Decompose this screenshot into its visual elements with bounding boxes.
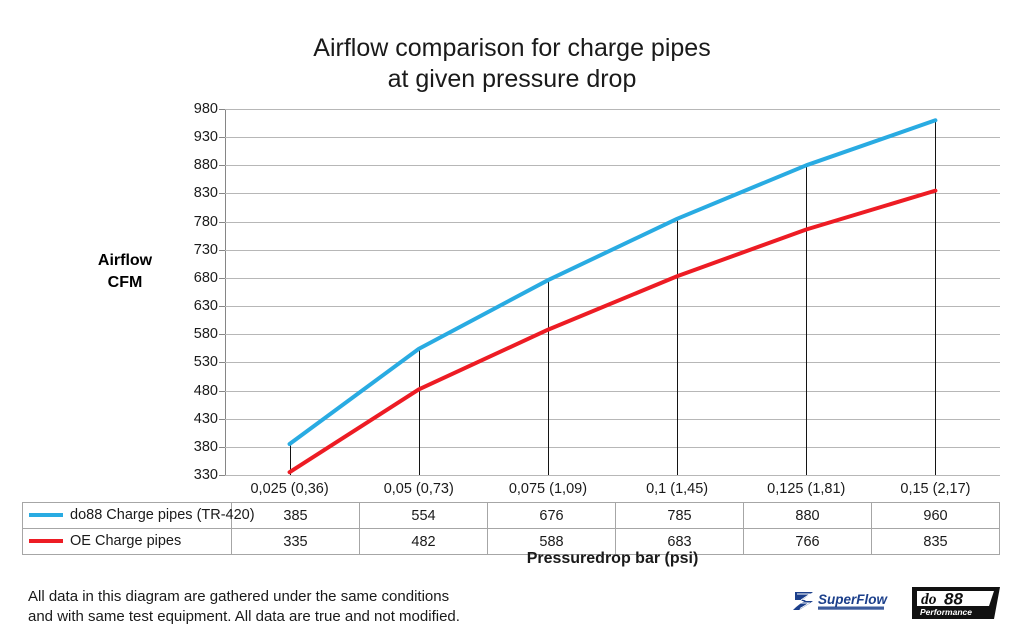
table-spacer-cell — [23, 476, 232, 503]
table-cell-value: 880 — [744, 503, 872, 529]
legend-item-1: OE Charge pipes — [23, 529, 232, 555]
table-cell-value: 785 — [616, 503, 744, 529]
y-tick-label: 830 — [174, 186, 218, 200]
y-tick-label: 480 — [174, 384, 218, 398]
y-tick-label: 880 — [174, 158, 218, 172]
table-spacer-row — [23, 476, 1000, 503]
y-tick-label: 730 — [174, 243, 218, 257]
data-table: do88 Charge pipes (TR-420)38555467678588… — [22, 476, 1000, 555]
footer-disclaimer: All data in this diagram are gathered un… — [28, 587, 460, 627]
superflow-logo: SuperFlow — [791, 586, 891, 616]
y-tick-label: 680 — [174, 271, 218, 285]
legend-label: OE Charge pipes — [70, 534, 181, 550]
table-spacer-cell — [232, 476, 360, 503]
svg-text:88: 88 — [944, 590, 963, 609]
y-tick-label: 580 — [174, 327, 218, 341]
table-spacer-cell — [360, 476, 488, 503]
plot-area — [225, 109, 1000, 475]
do88-logo: do 88 Performance — [910, 585, 1002, 621]
x-axis-title: Pressuredrop bar (psi) — [225, 550, 1000, 568]
table-spacer-cell — [616, 476, 744, 503]
y-tick-label: 380 — [174, 440, 218, 454]
y-axis-tick-labels: 9809308808307807306806305805304804303803… — [172, 109, 218, 475]
table-spacer-cell — [744, 476, 872, 503]
table-cell-value: 554 — [360, 503, 488, 529]
legend-item-0: do88 Charge pipes (TR-420) — [23, 503, 232, 529]
y-tick-label: 530 — [174, 355, 218, 369]
table-spacer-cell — [872, 476, 1000, 503]
legend-color-swatch — [29, 513, 63, 517]
series-lines — [225, 109, 1000, 475]
legend-color-swatch — [29, 539, 63, 543]
y-tick-label: 630 — [174, 299, 218, 313]
table-row: do88 Charge pipes (TR-420)38555467678588… — [23, 503, 1000, 529]
table-spacer-cell — [488, 476, 616, 503]
chart-title: Airflow comparison for charge pipes at g… — [0, 33, 1024, 95]
table-cell-value: 960 — [872, 503, 1000, 529]
table-cell-value: 676 — [488, 503, 616, 529]
y-axis-title: Airflow CFM — [62, 250, 188, 294]
series-line-1 — [290, 191, 936, 473]
series-line-0 — [290, 120, 936, 444]
legend-label: do88 Charge pipes (TR-420) — [70, 508, 255, 524]
y-tick-label: 980 — [174, 102, 218, 116]
svg-text:do: do — [921, 591, 937, 608]
svg-text:SuperFlow: SuperFlow — [818, 592, 889, 607]
svg-text:Performance: Performance — [920, 607, 972, 617]
y-tick-label: 780 — [174, 215, 218, 229]
y-tick-label: 930 — [174, 130, 218, 144]
y-tick-label: 430 — [174, 412, 218, 426]
